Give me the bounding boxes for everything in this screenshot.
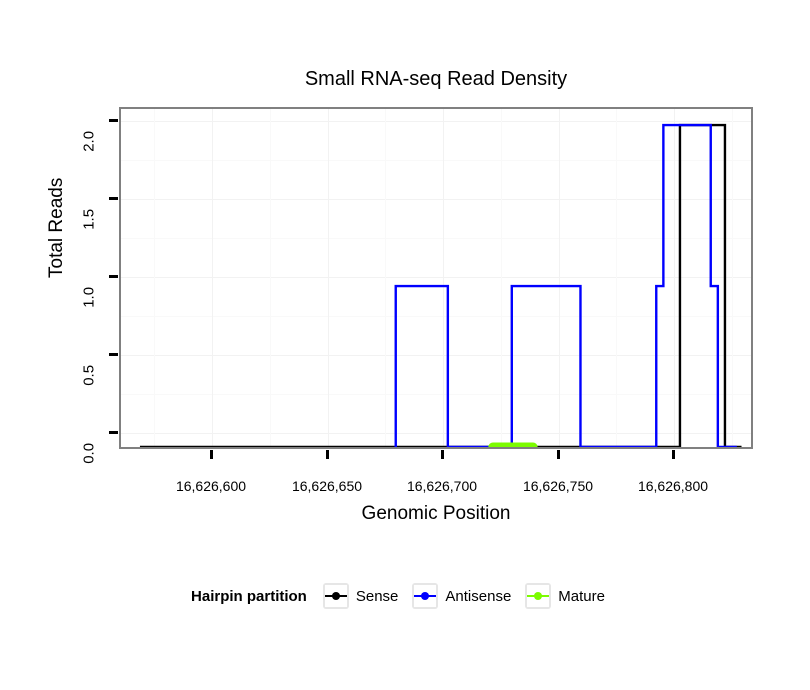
legend-key-mature [525, 583, 551, 609]
y-tick-mark [109, 431, 118, 434]
x-tick-label: 16,626,600 [176, 478, 246, 494]
y-tick-label: 0.5 [80, 365, 97, 386]
legend-entry-antisense[interactable]: Antisense [412, 583, 511, 609]
legend-entry-sense[interactable]: Sense [323, 583, 399, 609]
x-tick-mark [441, 450, 444, 459]
y-tick-mark [109, 275, 118, 278]
x-axis-title: Genomic Position [119, 503, 753, 525]
plot-panel [119, 107, 753, 449]
x-tick-label: 16,626,650 [292, 478, 362, 494]
legend-label-sense: Sense [356, 588, 399, 605]
y-tick-label: 0.0 [80, 443, 97, 464]
line-with-dot-icon [414, 585, 436, 607]
chart-figure: Small RNA-seq Read Density Total Reads 2… [0, 0, 810, 690]
legend-label-mature: Mature [558, 588, 605, 605]
y-tick-mark [109, 353, 118, 356]
legend-label-antisense: Antisense [445, 588, 511, 605]
y-tick-mark [109, 119, 118, 122]
series-layer [121, 109, 751, 447]
chart-title: Small RNA-seq Read Density [119, 68, 753, 91]
x-tick-mark [326, 450, 329, 459]
line-with-dot-icon [527, 585, 549, 607]
line-with-dot-icon [325, 585, 347, 607]
legend: Hairpin partition Sense Antisense [0, 583, 810, 609]
x-tick-label: 16,626,700 [407, 478, 477, 494]
x-tick-label: 16,626,800 [638, 478, 708, 494]
legend-key-sense [323, 583, 349, 609]
legend-key-antisense [412, 583, 438, 609]
plot-area [121, 109, 751, 447]
x-tick-mark [210, 450, 213, 459]
series-line-antisense [396, 125, 737, 447]
y-tick-label: 1.5 [80, 209, 97, 230]
y-tick-label: 1.0 [80, 287, 97, 308]
x-tick-mark [672, 450, 675, 459]
y-tick-mark [109, 197, 118, 200]
legend-title: Hairpin partition [191, 588, 307, 605]
legend-entry-mature[interactable]: Mature [525, 583, 605, 609]
x-tick-mark [557, 450, 560, 459]
y-axis-title: Total Reads [46, 178, 68, 278]
y-tick-label: 2.0 [80, 131, 97, 152]
x-tick-label: 16,626,750 [523, 478, 593, 494]
